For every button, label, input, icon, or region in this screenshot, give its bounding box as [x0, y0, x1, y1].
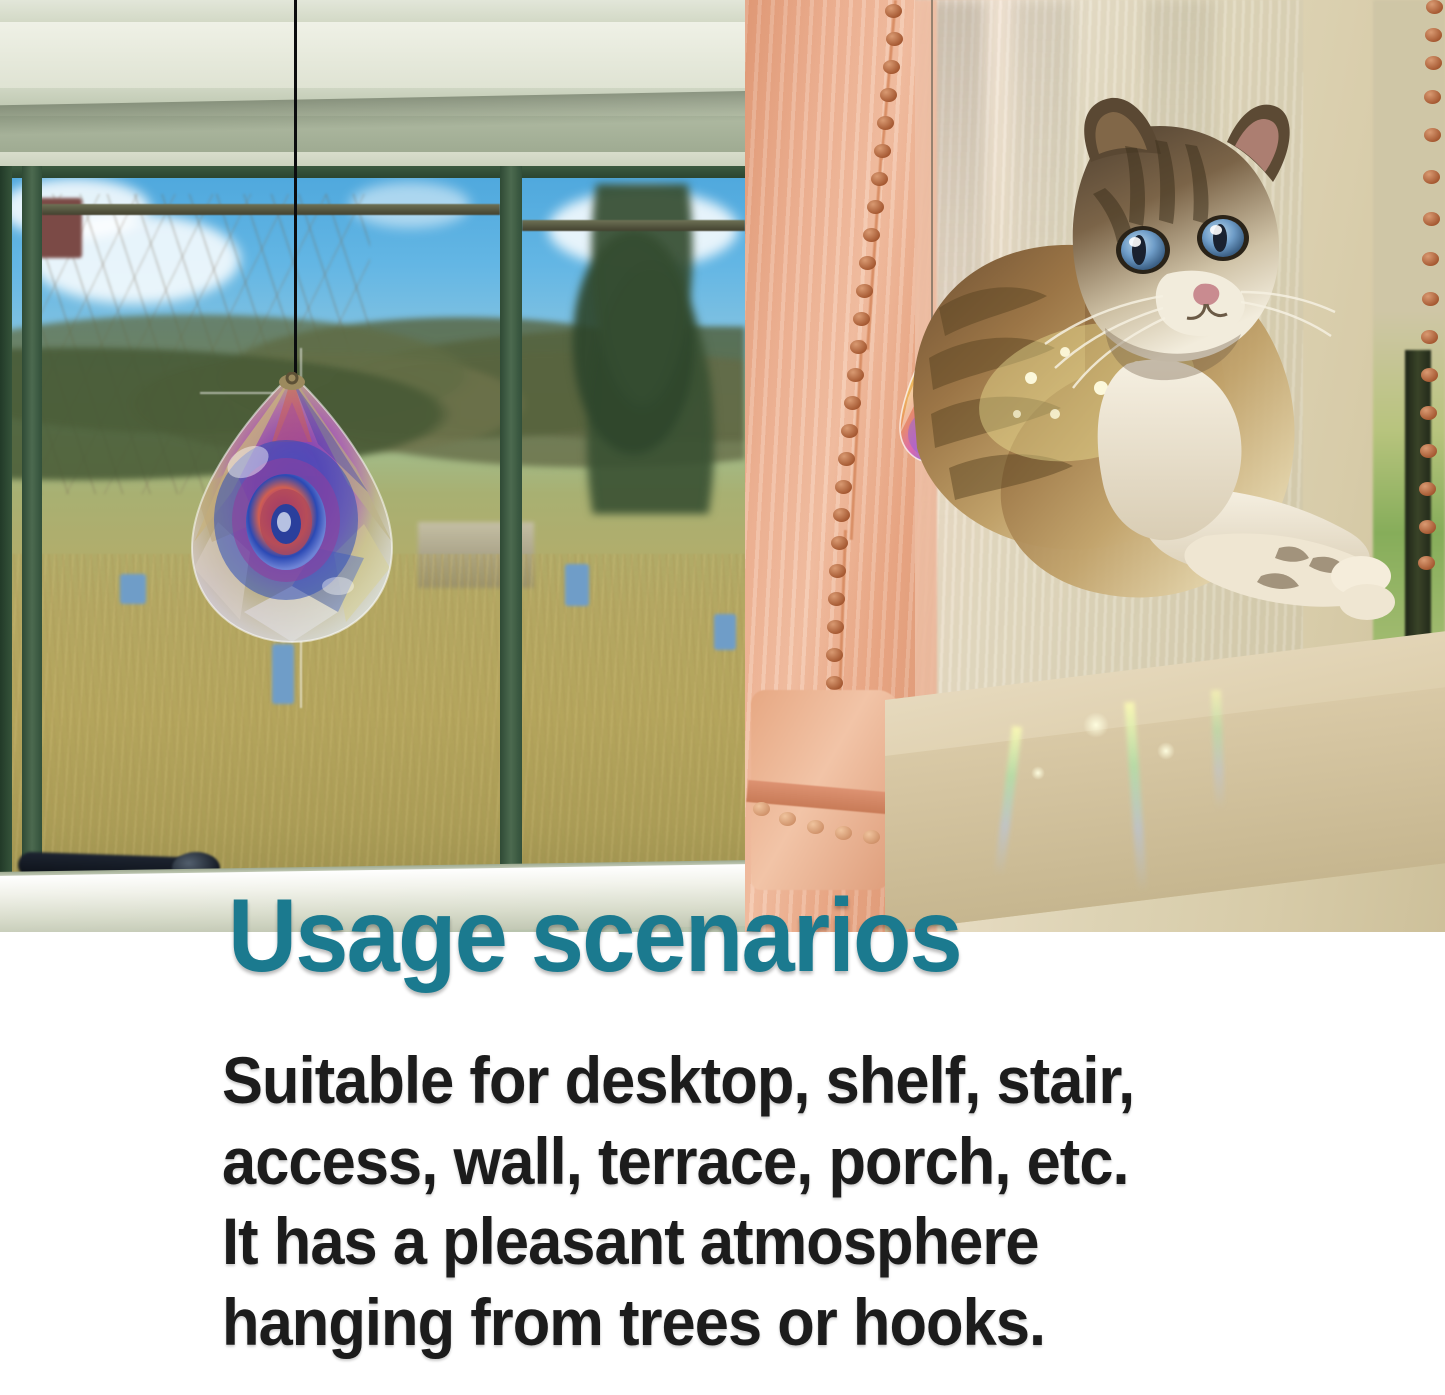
pompom-icon [856, 284, 873, 298]
pompom-icon [1424, 90, 1441, 104]
description-line: Suitable for desktop, shelf, stair, [222, 1040, 1264, 1121]
pompom-icon [1425, 56, 1442, 70]
pompom-icon [847, 368, 864, 382]
pompom-icon [1419, 520, 1436, 534]
page-title: Usage scenarios [228, 884, 961, 988]
pompom-icon [863, 228, 880, 242]
sash-rail [522, 220, 745, 231]
yard-object [565, 564, 589, 606]
pompom-icon [807, 820, 824, 834]
pompom-icon [1424, 128, 1441, 142]
pompom-icon [859, 256, 876, 270]
valance-band [0, 0, 745, 22]
cat-icon [905, 96, 1405, 706]
pompom-icon [1423, 212, 1440, 226]
pompom-icon [1422, 252, 1439, 266]
photo-crystal-suncatcher-in-window [0, 0, 745, 932]
yard-object [120, 574, 146, 604]
yard-object [272, 644, 294, 704]
pompom-icon [853, 312, 870, 326]
description-line: hanging from trees or hooks. [222, 1282, 1264, 1363]
photo-cat-on-windowsill [745, 0, 1445, 932]
light-sparkle [1083, 712, 1109, 738]
pompom-icon [829, 564, 846, 578]
pompom-icon [833, 508, 850, 522]
pompom-icon [844, 396, 861, 410]
description-text: Suitable for desktop, shelf, stair, acce… [222, 1040, 1264, 1362]
pompom-icon [835, 480, 852, 494]
pompom-icon [753, 802, 770, 816]
pompom-icon [885, 4, 902, 18]
pompom-icon [863, 830, 880, 844]
pompom-icon [838, 452, 855, 466]
pompom-icon [1423, 170, 1440, 184]
pompom-icon [1420, 444, 1437, 458]
pompom-icon [841, 424, 858, 438]
description-line: It has a pleasant atmosphere [222, 1201, 1264, 1282]
pompom-icon [779, 812, 796, 826]
pompom-icon [871, 172, 888, 186]
pompom-icon [1418, 556, 1435, 570]
light-sparkle [1157, 742, 1175, 760]
photo-strip [0, 0, 1445, 932]
pompom-icon [828, 592, 845, 606]
pompom-icon [1421, 368, 1438, 382]
hanging-cord [294, 0, 297, 382]
pompom-icon [874, 144, 891, 158]
pompom-icon [827, 620, 844, 634]
window-mullion-left [22, 166, 42, 874]
description-line: access, wall, terrace, porch, etc. [222, 1121, 1264, 1202]
window-mullion-center [500, 166, 522, 874]
pompom-icon [850, 340, 867, 354]
pompom-icon [835, 826, 852, 840]
pompom-icon [1419, 482, 1436, 496]
pompom-icon [1422, 292, 1439, 306]
evergreen-tree [557, 184, 727, 514]
crystal-suncatcher-large [188, 372, 396, 644]
yard-object [714, 614, 736, 650]
valance-band [0, 22, 745, 88]
pompom-icon [867, 200, 884, 214]
pompom-icon [826, 648, 843, 662]
pompom-icon [831, 536, 848, 550]
pompom-icon [880, 88, 897, 102]
pompom-icon [1421, 330, 1438, 344]
pompom-icon [883, 60, 900, 74]
light-sparkle [1031, 766, 1045, 780]
pompom-icon [886, 32, 903, 46]
pompom-icon [1425, 28, 1442, 42]
sash-rail [42, 204, 500, 215]
window-frame-outer-left [0, 166, 12, 932]
window-frame-top [0, 166, 745, 178]
pompom-icon [1420, 406, 1437, 420]
pompom-icon [877, 116, 894, 130]
pompom-icon [1426, 0, 1443, 14]
pompom-icon [826, 676, 843, 690]
